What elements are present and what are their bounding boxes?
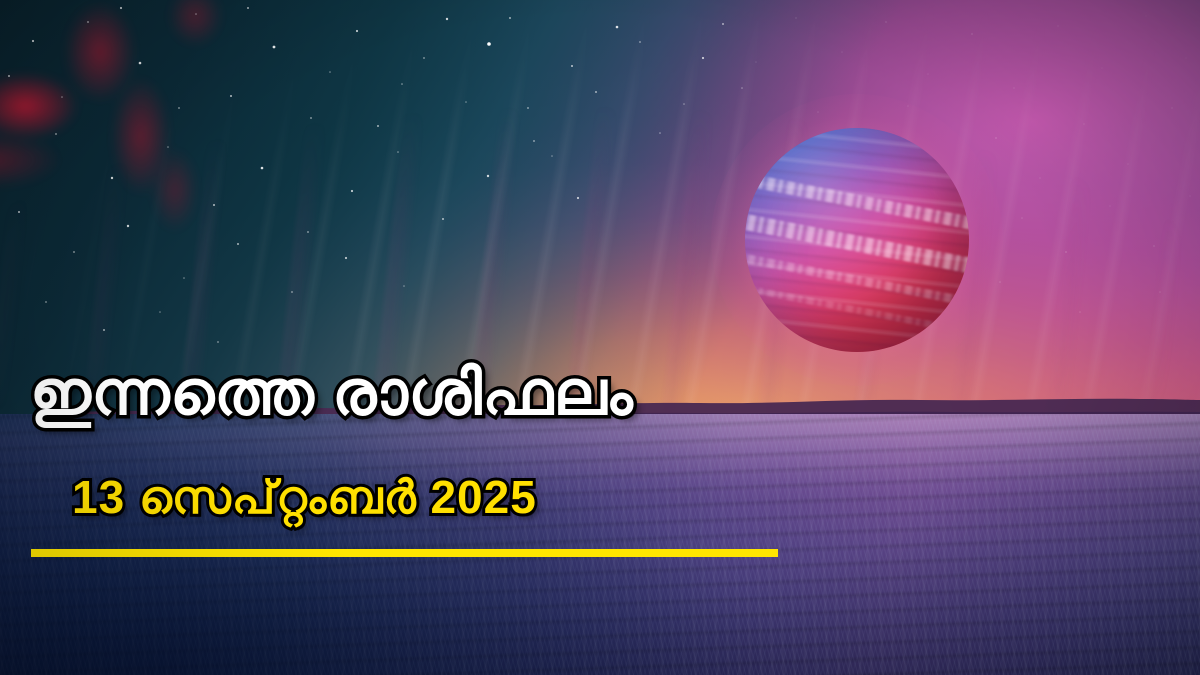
planet-sphere bbox=[745, 128, 969, 352]
field-vignette bbox=[0, 414, 1200, 675]
planet-limb-shading bbox=[745, 128, 969, 352]
grass-field bbox=[0, 414, 1200, 675]
planet bbox=[745, 128, 969, 352]
horoscope-banner-image: ഇന്നത്തെ രാശിഫലം 13 സെപ്റ്റംബർ 2025 bbox=[0, 0, 1200, 675]
